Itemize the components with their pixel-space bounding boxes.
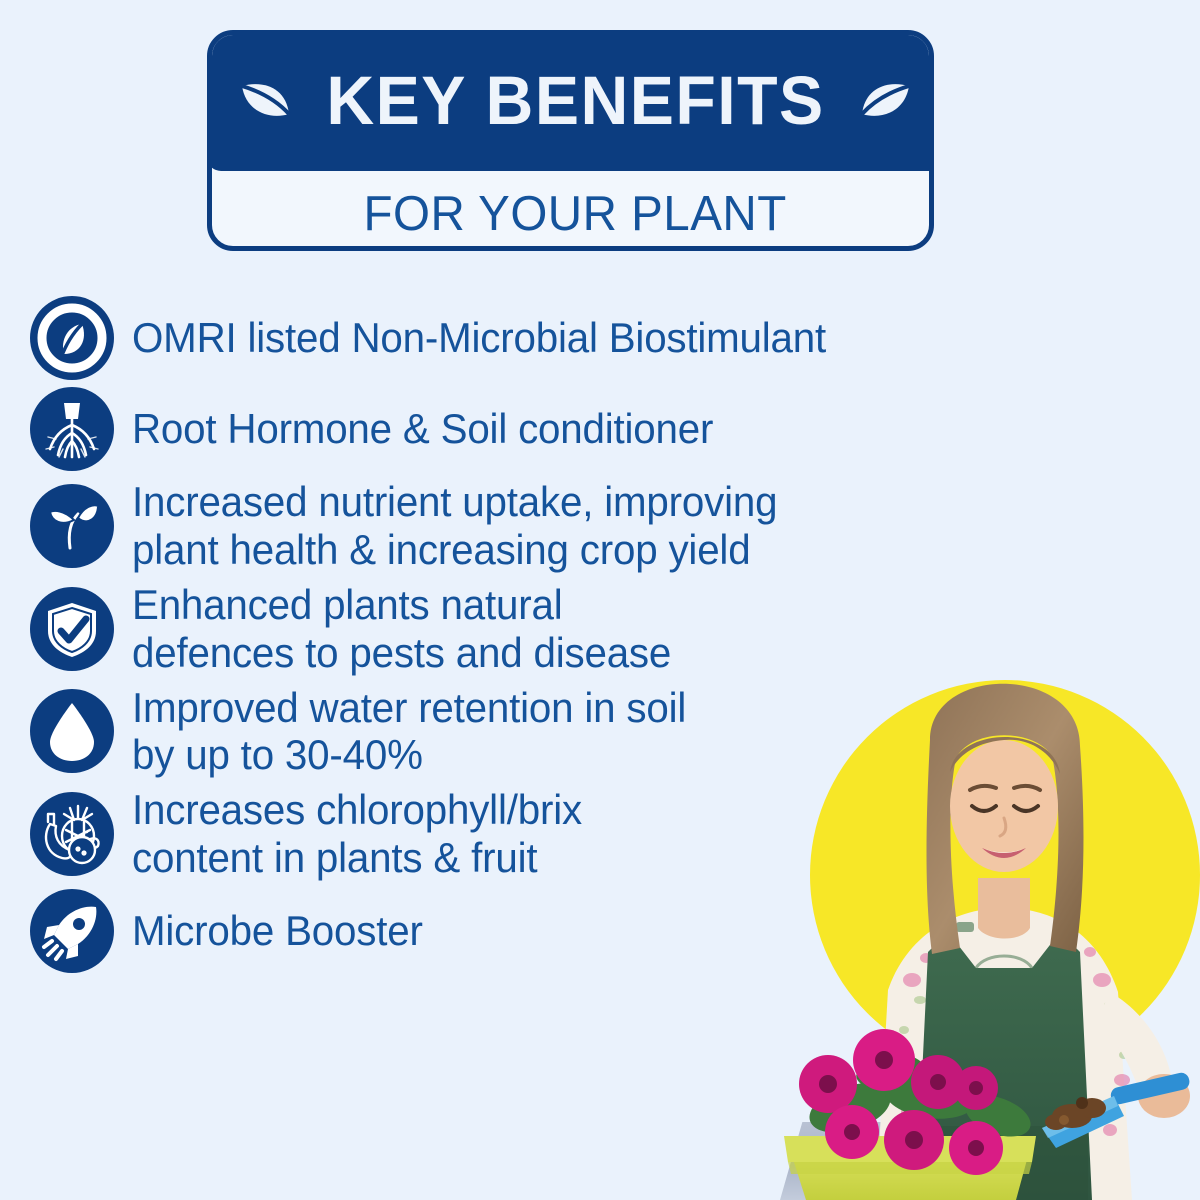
page-subtitle: FOR YOUR PLANT [364, 186, 787, 242]
badge-circle [30, 792, 114, 876]
badge-circle [30, 689, 114, 773]
badge-circle [30, 484, 114, 568]
list-item-label: Enhanced plants natural defences to pest… [132, 581, 671, 677]
list-item-label: Improved water retention in soil by up t… [132, 684, 686, 780]
badge-circle [30, 296, 114, 380]
page-title: KEY BENEFITS [326, 66, 824, 135]
benefits-list: OMRI listed Non-Microbial Biostimulant [30, 296, 990, 980]
badge-circle [30, 387, 114, 471]
header-subtitle-bar: FOR YOUR PLANT [212, 176, 934, 251]
shield-check-icon [30, 587, 114, 671]
list-item: Increased nutrient uptake, improving pla… [30, 478, 990, 574]
list-item-label: Increased nutrient uptake, improving pla… [132, 478, 777, 574]
list-item: Increases chlorophyll/brix content in pl… [30, 786, 990, 882]
list-item: Microbe Booster [30, 889, 990, 973]
list-item-label: Increases chlorophyll/brix content in pl… [132, 786, 582, 882]
root-system-icon [30, 387, 114, 471]
leaf-icon [234, 70, 296, 132]
leaf-in-circle-icon [30, 296, 114, 380]
sprout-icon [30, 484, 114, 568]
fruits-icon [30, 792, 114, 876]
header-title-bar: KEY BENEFITS [207, 30, 934, 171]
leaf-icon [855, 70, 917, 132]
list-item-label: Microbe Booster [132, 907, 423, 954]
list-item-label: Root Hormone & Soil conditioner [132, 405, 713, 452]
list-item: Improved water retention in soil by up t… [30, 684, 990, 780]
list-item: Root Hormone & Soil conditioner [30, 387, 990, 471]
badge-circle [30, 889, 114, 973]
list-item: OMRI listed Non-Microbial Biostimulant [30, 296, 990, 380]
badge-circle [30, 587, 114, 671]
rocket-icon [30, 889, 114, 973]
water-drop-icon [30, 689, 114, 773]
list-item-label: OMRI listed Non-Microbial Biostimulant [132, 314, 826, 361]
list-item: Enhanced plants natural defences to pest… [30, 581, 990, 677]
header-banner: KEY BENEFITS FOR YOUR PLANT [207, 30, 934, 251]
